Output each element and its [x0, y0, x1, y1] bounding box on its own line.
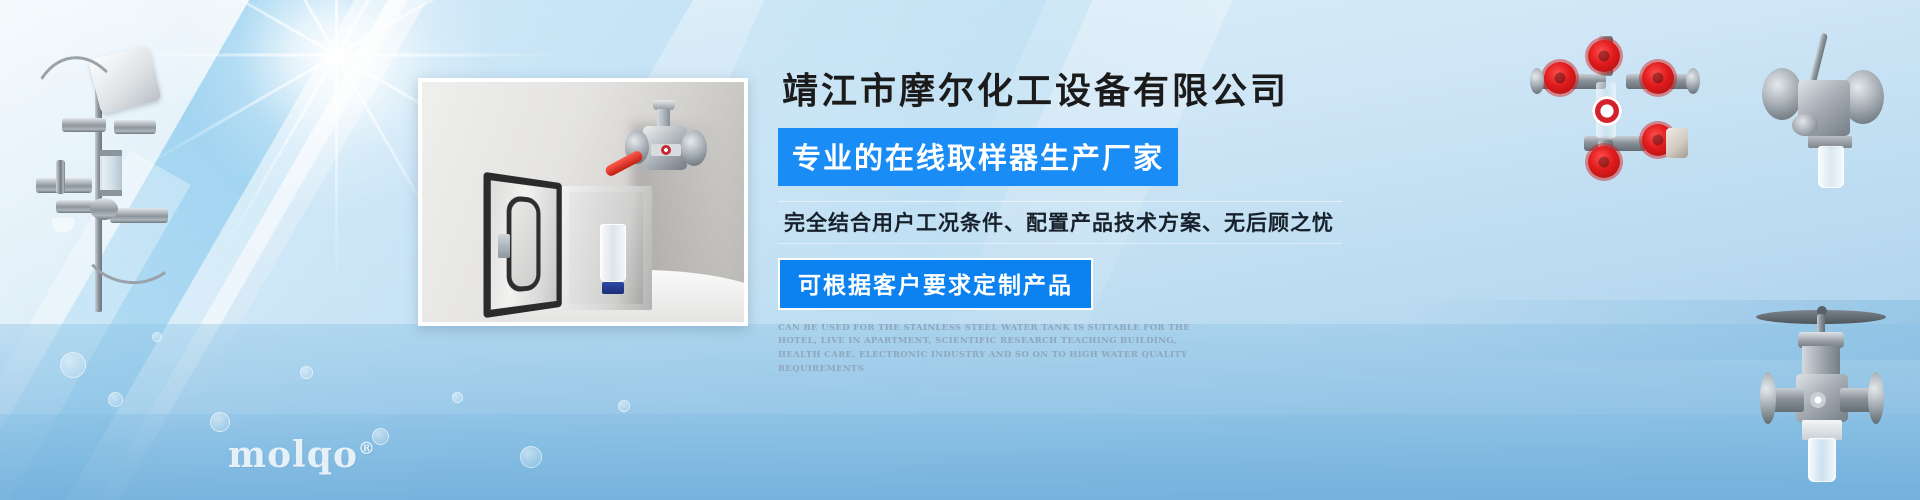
cabinet-key — [498, 234, 510, 258]
promo-banner: 靖江市摩尔化工设备有限公司 专业的在线取样器生产厂家 完全结合用户工况条件、配置… — [0, 0, 1920, 500]
sample-bottle — [1808, 438, 1836, 482]
sub-slogan: 完全结合用户工况条件、配置产品技术方案、无后顾之忧 — [778, 201, 1342, 244]
sample-bottle — [1818, 146, 1844, 188]
valve-flange — [1762, 68, 1802, 120]
pipe-flange — [1530, 68, 1544, 94]
valve-hub — [90, 198, 118, 220]
sampler-valve-head — [627, 100, 703, 192]
company-title: 靖江市摩尔化工设备有限公司 — [778, 72, 1418, 112]
valve-body — [110, 208, 168, 223]
bubble-icon — [452, 392, 463, 403]
blue-cap — [602, 282, 624, 294]
bubble-icon — [520, 446, 542, 468]
pipe-segment — [1772, 388, 1804, 412]
product-photo — [418, 78, 748, 326]
sun-ray-icon — [337, 54, 567, 57]
valve-body — [62, 118, 106, 132]
left-equipment-image — [10, 22, 190, 302]
bottle-collar — [1802, 420, 1842, 440]
bubble-icon — [152, 332, 162, 342]
red-handwheel — [1588, 40, 1620, 72]
valve-stem — [657, 109, 670, 127]
highlight-slogan: 专业的在线取样器生产厂家 — [778, 128, 1178, 186]
lever-valve-assembly — [1740, 18, 1910, 188]
watermark-logo: molqo® — [228, 434, 376, 476]
actuator-housing — [1666, 128, 1688, 158]
bubble-icon — [300, 366, 313, 379]
red-handwheel — [1544, 62, 1576, 94]
brand-seal-icon — [1810, 392, 1826, 408]
watermark-text: molqo — [228, 434, 358, 476]
registered-mark-icon: ® — [358, 439, 376, 459]
brand-seal-icon — [661, 145, 671, 155]
red-handwheel — [1642, 62, 1674, 94]
bubble-icon — [210, 412, 230, 432]
bubble-icon — [618, 400, 630, 412]
sun-ray-icon — [335, 0, 338, 55]
valve-flange — [1868, 372, 1884, 424]
brand-seal-icon — [1592, 96, 1622, 126]
cabinet-door-window — [507, 195, 541, 293]
pipe-flange — [1686, 68, 1700, 94]
valve-flange — [681, 130, 707, 166]
custom-product-badge: 可根据客户要求定制产品 — [778, 258, 1093, 310]
sun-ray-icon — [335, 55, 338, 285]
cross-valve-assembly — [1530, 28, 1720, 168]
sun-ray-icon — [335, 0, 453, 56]
english-description: CAN BE USED FOR THE STAINLESS STEEL WATE… — [778, 322, 1208, 377]
valve-body — [114, 120, 156, 134]
valve-flange — [1760, 372, 1776, 424]
sample-bottle — [600, 224, 626, 282]
bubble-icon — [60, 352, 86, 378]
sample-bottle — [52, 218, 74, 232]
bubble-icon — [108, 392, 123, 407]
gate-valve-assembly — [1732, 296, 1912, 496]
banner-text-block: 靖江市摩尔化工设备有限公司 专业的在线取样器生产厂家 完全结合用户工况条件、配置… — [778, 72, 1418, 377]
relief-valve — [56, 160, 65, 194]
red-handwheel — [1588, 146, 1620, 178]
cabinet-door — [483, 172, 561, 319]
valve-cap — [1792, 114, 1818, 136]
